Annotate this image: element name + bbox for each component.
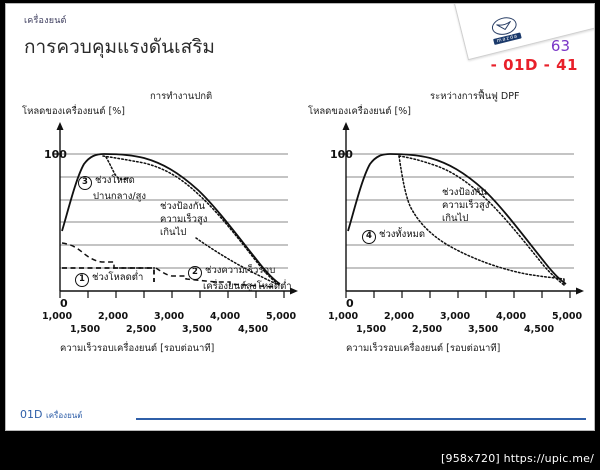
annotation-overspeed-right: ช่วงป้องกัน ความเร็วสูง เกินไป: [442, 186, 489, 225]
page-code: - 01D - 41: [491, 56, 578, 74]
page-title: การควบคุมแรงดันเสริม: [24, 32, 215, 62]
annotation-4-right: 4ช่วงทั้งหมด: [362, 228, 425, 244]
annotation-2-left: 2ช่วงความเร็วรอบ เครื่องยนต์สูงโหลดต่ำ: [188, 264, 292, 293]
page-number: 63: [551, 37, 570, 55]
curve-low-load-left: [62, 243, 155, 268]
y-tick-100-right: 100: [330, 148, 353, 161]
footer-code-suffix: เครื่องยนต์: [46, 411, 82, 420]
x-tick-labels-right: 1,000 1,500 2,000 2,500 3,000 3,500 4,00…: [306, 311, 586, 341]
footer-code: 01D เครื่องยนต์: [20, 408, 82, 422]
y-tick-0-right: 0: [346, 297, 354, 310]
annotation-1-left: 1ช่วงโหลดต่ำ: [75, 271, 143, 287]
slide-canvas: เครื่องยนต์ การควบคุมแรงดันเสริม mazda 6…: [5, 3, 595, 431]
plot-area-right: 100 0 ช่วงป้องกัน ความเร็วสูง เกินไป 4ช่…: [306, 116, 586, 306]
y-tick-0-left: 0: [60, 297, 68, 310]
annotation-2-badge: 2: [188, 266, 202, 280]
annotation-4-badge: 4: [362, 230, 376, 244]
chart-title-right: ระหว่างการฟื้นฟู DPF: [430, 89, 519, 104]
footer-code-value: 01D: [20, 408, 42, 421]
x-axis-label-left: ความเร็วรอบเครื่องยนต์ [รอบต่อนาที]: [60, 341, 214, 356]
watermark: [958x720] https://upic.me/: [441, 452, 594, 465]
x-tick-labels-left: 1,000 1,500 2,000 2,500 3,000 3,500 4,00…: [20, 311, 300, 341]
annotation-1-badge: 1: [75, 273, 89, 287]
header-category-label: เครื่องยนต์: [24, 13, 67, 27]
chart-title-left: การทำงานปกติ: [150, 89, 212, 104]
plot-area-left: 100 0 3ช่วงโหลด ปานกลาง/สูง ช่วงป้องกัน …: [20, 116, 300, 306]
annotation-3-left: 3ช่วงโหลด ปานกลาง/สูง: [78, 174, 146, 203]
annotation-3-badge: 3: [78, 176, 92, 190]
footer-divider: [136, 418, 586, 420]
y-tick-100-left: 100: [44, 148, 67, 161]
annotation-overspeed-left: ช่วงป้องกัน ความเร็วสูง เกินไป: [160, 200, 207, 239]
x-axis-label-right: ความเร็วรอบเครื่องยนต์ [รอบต่อนาที]: [346, 341, 500, 356]
